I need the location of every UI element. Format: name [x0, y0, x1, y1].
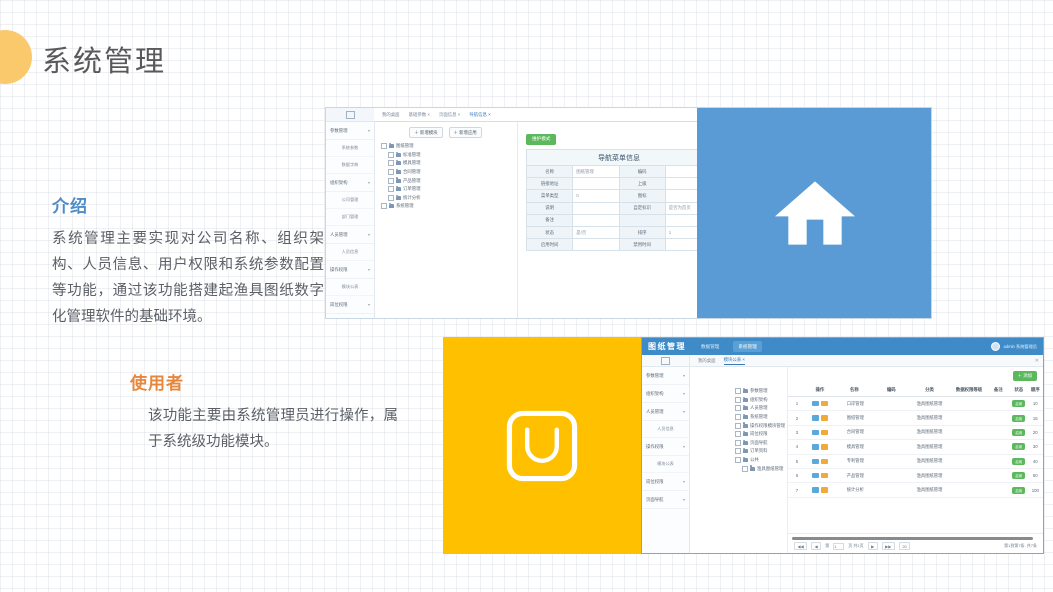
column-header-1[interactable]: 操作	[806, 384, 834, 397]
row-actions[interactable]	[806, 483, 834, 497]
folder-icon	[396, 187, 401, 191]
screenshot-navigation-menu: 参数管理▾系统参数数据字典组织架构▾公司管理部门管理人员管理▾人员信息操作权限▾…	[325, 107, 932, 319]
table-row[interactable]: 3合同管理渔具图纸管理启用20	[788, 425, 1043, 439]
s2-header: 图纸管理 数据管理系统管理 admin 系统管理员	[642, 338, 1043, 355]
tab-0[interactable]: 我的桌面	[382, 112, 400, 118]
s1-collapse-toggle[interactable]	[326, 108, 374, 122]
tab-1[interactable]: 基础参数 ×	[409, 112, 430, 118]
view-icon[interactable]	[812, 459, 819, 465]
row-category: 渔具图纸管理	[908, 468, 951, 482]
row-category: 渔具图纸管理	[908, 397, 951, 411]
row-level	[951, 483, 987, 497]
table-header-row: 操作名称编码分类数据权限等级备注状态顺序	[788, 384, 1043, 397]
column-header-0[interactable]	[788, 384, 806, 397]
expand-icon[interactable]	[735, 431, 741, 437]
s2-grid-pane: ＋ 添加 操作名称编码分类数据权限等级备注状态顺序 1口岸管理渔具图纸管理启用1…	[788, 367, 1043, 554]
tree-node-label: 参数管理	[750, 388, 768, 394]
page-size-select[interactable]: 20	[899, 542, 910, 550]
folder-icon	[396, 170, 401, 174]
row-index: 3	[788, 425, 806, 439]
status-badge-label: 启用	[1012, 400, 1025, 407]
row-remark	[987, 454, 1010, 468]
sidebar-item-0[interactable]: 参数管理▾	[642, 367, 689, 385]
s2-collapse-toggle[interactable]	[642, 355, 690, 366]
row-order: 40	[1028, 454, 1043, 468]
sidebar-item-label: 模块公表	[342, 284, 359, 290]
tree-node-label: 模具管理	[403, 160, 421, 166]
status-badge-label: 启用	[1012, 429, 1025, 436]
chevron-down-icon: ▾	[683, 391, 685, 396]
tree-node[interactable]: 组织架构	[735, 396, 787, 405]
avatar	[991, 342, 1000, 351]
row-order: 10	[1028, 397, 1043, 411]
title-accent-circle	[0, 30, 32, 84]
edit-icon[interactable]	[821, 401, 828, 407]
tree-node-label: 操作权限模块管理	[750, 423, 785, 429]
tree-node[interactable]: 渔具图纸管理	[735, 464, 787, 473]
row-name: 产品管理	[834, 468, 875, 482]
tree-node-label: 公共	[750, 457, 759, 463]
row-name: 模具管理	[834, 440, 875, 454]
user-heading: 使用者	[130, 369, 398, 394]
row-actions[interactable]	[806, 468, 834, 482]
view-icon[interactable]	[812, 430, 819, 436]
folder-icon	[743, 449, 748, 453]
tree-node[interactable]: 图纸管理	[381, 142, 517, 151]
row-remark	[987, 425, 1010, 439]
expand-icon[interactable]	[388, 160, 394, 166]
tree-node[interactable]: 合同管理	[381, 168, 517, 177]
column-header-2[interactable]: 名称	[834, 384, 875, 397]
form-label: 自定标识	[619, 202, 665, 214]
expand-icon[interactable]	[735, 440, 741, 446]
chevron-down-icon: ▾	[368, 267, 370, 272]
sidebar-item-label: 数据字典	[342, 162, 359, 168]
tree-node[interactable]: 产品管理	[381, 176, 517, 185]
status-badge: 启用	[1010, 440, 1028, 454]
sidebar-item-label: 系统参数	[342, 145, 359, 151]
row-actions[interactable]	[806, 425, 834, 439]
row-index: 6	[788, 468, 806, 482]
expand-icon[interactable]	[742, 466, 748, 472]
row-actions[interactable]	[806, 440, 834, 454]
tree-node[interactable]: 操作权限模块管理	[735, 421, 787, 430]
row-code	[875, 454, 908, 468]
sidebar-item-label: 岗位权限	[646, 479, 664, 485]
sidebar-item-label: 操作权限	[330, 267, 348, 273]
expand-icon[interactable]	[735, 414, 741, 420]
sidebar-item-label: 部门管理	[342, 214, 359, 220]
row-index: 1	[788, 397, 806, 411]
status-badge: 启用	[1010, 483, 1028, 497]
edit-icon[interactable]	[821, 459, 828, 465]
s2-tree[interactable]: 参数管理组织架构人员管理系统管理操作权限模块管理岗位权限页面导航订单资料公共渔具…	[690, 367, 788, 554]
form-label: 名称	[527, 166, 573, 178]
form-value[interactable]	[573, 239, 619, 251]
row-index: 7	[788, 483, 806, 497]
row-code	[875, 397, 908, 411]
tree-node[interactable]: 系统管理	[381, 202, 517, 211]
table-row[interactable]: 4模具管理渔具图纸管理启用30	[788, 440, 1043, 454]
row-remark	[987, 411, 1010, 425]
tree-node[interactable]: 人员管理	[735, 404, 787, 413]
table-row[interactable]: 7统计分析渔具图纸管理启用100	[788, 483, 1043, 497]
tab-0[interactable]: 我的桌面	[698, 358, 716, 364]
column-header-6[interactable]: 备注	[987, 384, 1010, 397]
sidebar-item-label: 模块公表	[657, 461, 674, 467]
form-value[interactable]: 0	[573, 190, 619, 202]
sidebar-item-6[interactable]: 岗位权限▾	[642, 473, 689, 491]
edit-icon[interactable]	[821, 415, 828, 421]
tree-node-label: 图纸管理	[396, 143, 414, 149]
row-remark	[987, 440, 1010, 454]
slide-root: 系统管理 介绍 系统管理主要实现对公司名称、组织架构、人员信息、用户权限和系统参…	[0, 0, 1053, 592]
tree-node-label: 岗位权限	[750, 431, 768, 437]
s2-grid-toolbar[interactable]: ＋ 添加	[788, 367, 1043, 384]
tab-1[interactable]: 模块公表 ×	[724, 357, 745, 365]
folder-icon	[389, 144, 394, 148]
form-label: 编码	[619, 166, 665, 178]
tree-node[interactable]: 标准管理	[381, 151, 517, 160]
tree-node-label: 系统管理	[750, 414, 768, 420]
row-level	[951, 454, 987, 468]
home-icon	[773, 178, 857, 248]
form-label	[619, 214, 665, 226]
table-row[interactable]: 6产品管理渔具图纸管理启用50	[788, 468, 1043, 482]
row-level	[951, 411, 987, 425]
tree-node-label: 标准管理	[403, 152, 421, 158]
s1-tree-pane: ＋ 新增模块 ＋ 新增应用 图纸管理标准管理模具管理合同管理产品管理订单管理统计…	[374, 122, 518, 319]
sidebar-item-8[interactable]: 操作权限▾	[326, 261, 374, 279]
row-remark	[987, 483, 1010, 497]
app-window-1: 参数管理▾系统参数数据字典组织架构▾公司管理部门管理人员管理▾人员信息操作权限▾…	[326, 108, 697, 318]
s1-tab-bar[interactable]: 我的桌面基础参数 ×页面信息 ×导航信息 ×	[374, 108, 697, 122]
row-name: 合同管理	[834, 425, 875, 439]
s1-form-toolbar[interactable]: 维护模式	[518, 122, 697, 149]
s1-content: ＋ 新增模块 ＋ 新增应用 图纸管理标准管理模具管理合同管理产品管理订单管理统计…	[374, 122, 697, 319]
folder-icon	[743, 406, 748, 410]
expand-icon[interactable]	[388, 178, 394, 184]
folder-icon	[750, 467, 755, 471]
row-actions[interactable]	[806, 454, 834, 468]
row-category: 渔具图纸管理	[908, 411, 951, 425]
expand-icon[interactable]	[388, 169, 394, 175]
s2-footer: ◀◀ ◀ 第 1 页 共1页 ▶ ▶▶ 20 第1到第7条, 共7条	[788, 533, 1043, 554]
page-label: 第	[825, 543, 829, 549]
chevron-down-icon: ▾	[683, 373, 685, 378]
row-order: 20	[1028, 425, 1043, 439]
row-order: 30	[1028, 440, 1043, 454]
row-remark	[987, 468, 1010, 482]
tab-0[interactable]: 数据管理	[696, 341, 724, 352]
tree-node-label: 统计分析	[403, 195, 421, 201]
sidebar-item-0[interactable]: 参数管理▾	[326, 122, 374, 140]
module-table: 操作名称编码分类数据权限等级备注状态顺序 1口岸管理渔具图纸管理启用102图纸管…	[788, 384, 1043, 498]
screenshot-module-list: 图纸管理 数据管理系统管理 admin 系统管理员 我的桌面模块公表 × ✕ 参…	[641, 337, 1044, 554]
expand-icon[interactable]	[388, 152, 394, 158]
sidebar-item-7[interactable]: 页面导航▾	[642, 491, 689, 509]
tree-node[interactable]: 模具管理	[381, 159, 517, 168]
form-row: 菜单类型0图标	[527, 190, 712, 202]
row-code	[875, 468, 908, 482]
tree-node[interactable]: 参数管理	[735, 387, 787, 396]
expand-icon[interactable]	[381, 143, 387, 149]
close-icon[interactable]: ✕	[1035, 358, 1039, 364]
form-label: 菜单类型	[527, 190, 573, 202]
status-badge: 启用	[1010, 411, 1028, 425]
page-input[interactable]: 1	[833, 543, 844, 550]
folder-icon	[743, 398, 748, 402]
status-badge-label: 启用	[1012, 443, 1025, 450]
sidebar-item-1[interactable]: 系统参数	[326, 140, 374, 157]
row-order: 100	[1028, 483, 1043, 497]
home-panel	[697, 108, 932, 318]
column-header-5[interactable]: 数据权限等级	[951, 384, 987, 397]
chevron-down-icon: ▾	[368, 232, 370, 237]
form-label: 禁用时间	[619, 239, 665, 251]
add-button[interactable]: ＋ 添加	[1013, 371, 1037, 381]
edit-icon[interactable]	[821, 430, 828, 436]
prev-page-button[interactable]: ◀	[811, 542, 821, 550]
sidebar-item-label: 人员信息	[657, 426, 674, 432]
sidebar-item-label: 人员管理	[646, 409, 664, 415]
folder-icon	[396, 196, 401, 200]
edit-icon[interactable]	[821, 444, 828, 450]
sidebar-item-label: 参数管理	[330, 128, 348, 134]
expand-icon[interactable]	[735, 397, 741, 403]
form-label: 链接地址	[527, 178, 573, 190]
chevron-down-icon: ▾	[683, 409, 685, 414]
intro-body: 系统管理主要实现对公司名称、组织架构、人员信息、用户权限和系统参数配置等功能，通…	[52, 226, 324, 330]
folder-icon	[396, 161, 401, 165]
folder-icon	[743, 458, 748, 462]
row-code	[875, 483, 908, 497]
row-level	[951, 468, 987, 482]
row-remark	[987, 397, 1010, 411]
s2-subbar: 我的桌面模块公表 × ✕	[642, 355, 1043, 367]
form-label: 排序	[619, 226, 665, 238]
folder-icon	[396, 153, 401, 157]
tree-node-label: 订单资料	[750, 448, 768, 454]
sidebar-item-label: 岗位权限	[330, 302, 348, 308]
status-badge: 启用	[1010, 397, 1028, 411]
expand-icon[interactable]	[388, 186, 394, 192]
sidebar-item-9[interactable]: 模块公表	[326, 279, 374, 296]
view-icon[interactable]	[812, 415, 819, 421]
first-page-button[interactable]: ◀◀	[794, 542, 807, 550]
form-row: 状态是/否排序1	[527, 226, 712, 238]
view-icon[interactable]	[812, 487, 819, 493]
page-title: 系统管理	[42, 38, 166, 80]
s1-sidebar[interactable]: 参数管理▾系统参数数据字典组织架构▾公司管理部门管理人员管理▾人员信息操作权限▾…	[326, 108, 375, 318]
form-label: 启用时间	[527, 239, 573, 251]
form-value[interactable]	[573, 202, 619, 214]
view-icon[interactable]	[812, 401, 819, 407]
form-label: 图标	[619, 190, 665, 202]
edit-icon[interactable]	[821, 487, 828, 493]
expand-icon[interactable]	[735, 457, 741, 463]
folder-icon	[743, 432, 748, 436]
edit-icon[interactable]	[821, 473, 828, 479]
row-actions[interactable]	[806, 397, 834, 411]
row-actions[interactable]	[806, 411, 834, 425]
table-row[interactable]: 1口岸管理渔具图纸管理启用10	[788, 397, 1043, 411]
sidebar-item-4[interactable]: 操作权限▾	[642, 438, 689, 456]
tree-node[interactable]: 统计分析	[381, 194, 517, 203]
sidebar-item-4[interactable]: 公司管理	[326, 192, 374, 209]
s1-form-pane: 维护模式 导航菜单信息 名称图纸管理编码链接地址上级菜单类型0图标说明自定标识是…	[518, 122, 697, 319]
view-icon[interactable]	[812, 444, 819, 450]
tab-1[interactable]: 系统管理	[733, 341, 761, 352]
chevron-down-icon: ▾	[683, 497, 685, 502]
table-row[interactable]: 5专利管理渔具图纸管理启用40	[788, 454, 1043, 468]
sidebar-item-label: 人员信息	[342, 249, 359, 255]
s2-sidebar[interactable]: 参数管理▾组织架构▾人员管理▾人员信息操作权限▾模块公表岗位权限▾页面导航▾	[642, 367, 690, 554]
shopping-bag-icon	[505, 409, 579, 483]
folder-icon	[743, 424, 748, 428]
row-category: 渔具图纸管理	[908, 454, 951, 468]
sidebar-item-label: 页面导航	[646, 497, 664, 503]
row-name: 统计分析	[834, 483, 875, 497]
form-row: 名称图纸管理编码	[527, 166, 712, 178]
maintain-mode-button[interactable]: 维护模式	[526, 134, 556, 145]
row-name: 图纸管理	[834, 411, 875, 425]
view-icon[interactable]	[812, 473, 819, 479]
column-header-7[interactable]: 状态	[1010, 384, 1028, 397]
tree-node-label: 页面导航	[750, 440, 768, 446]
add-module-button[interactable]: ＋ 新增模块	[409, 127, 442, 138]
tree-node-label: 订单管理	[403, 186, 421, 192]
tree-node[interactable]: 订单资料	[735, 447, 787, 456]
row-name: 专利管理	[834, 454, 875, 468]
add-app-button[interactable]: ＋ 新增应用	[449, 127, 482, 138]
expand-icon[interactable]	[735, 448, 741, 454]
form-value[interactable]: 图纸管理	[573, 166, 619, 178]
expand-icon[interactable]	[735, 423, 741, 429]
column-header-8[interactable]: 顺序	[1028, 384, 1043, 397]
tree-node[interactable]: 系统管理	[735, 413, 787, 422]
sidebar-item-label: 人员管理	[330, 232, 348, 238]
form-label: 说明	[527, 202, 573, 214]
navigation-menu-form: 导航菜单信息 名称图纸管理编码链接地址上级菜单类型0图标说明自定标识是否为首页备…	[526, 149, 712, 251]
status-badge-label: 启用	[1012, 487, 1025, 494]
column-header-4[interactable]: 分类	[908, 384, 951, 397]
section-user: 使用者 该功能主要由系统管理员进行操作，属于系统级功能模块。	[130, 369, 398, 455]
tree-node[interactable]: 公共	[735, 456, 787, 465]
s2-user-area[interactable]: admin 系统管理员	[991, 342, 1037, 351]
sidebar-item-3[interactable]: 组织架构▾	[326, 174, 374, 192]
sidebar-item-11[interactable]: 岗位信息	[326, 314, 374, 319]
row-code	[875, 425, 908, 439]
sidebar-item-5[interactable]: 模块公表	[642, 456, 689, 473]
sidebar-item-10[interactable]: 岗位权限▾	[326, 296, 374, 314]
s2-nav[interactable]: 数据管理系统管理	[696, 341, 762, 352]
folder-icon	[743, 441, 748, 445]
expand-icon[interactable]	[388, 195, 394, 201]
tree-node-label: 渔具图纸管理	[757, 466, 783, 472]
status-badge: 启用	[1010, 454, 1028, 468]
folder-icon	[743, 389, 748, 393]
sidebar-item-6[interactable]: 人员管理▾	[326, 226, 374, 244]
row-level	[951, 425, 987, 439]
form-label: 状态	[527, 226, 573, 238]
tree-node-label: 组织架构	[750, 397, 768, 403]
s1-tree-toolbar[interactable]: ＋ 新增模块 ＋ 新增应用	[374, 122, 517, 142]
tree-node[interactable]: 订单管理	[381, 185, 517, 194]
bag-panel	[443, 337, 641, 554]
section-intro: 介绍 系统管理主要实现对公司名称、组织架构、人员信息、用户权限和系统参数配置等功…	[52, 192, 324, 330]
form-value[interactable]	[573, 178, 619, 190]
expand-icon[interactable]	[735, 405, 741, 411]
row-level	[951, 440, 987, 454]
tree-node[interactable]: 页面导航	[735, 439, 787, 448]
chevron-down-icon: ▾	[368, 128, 370, 133]
form-row: 启用时间禁用时间	[527, 239, 712, 251]
tree-node-label: 合同管理	[403, 169, 421, 175]
expand-icon[interactable]	[381, 203, 387, 209]
row-name: 口岸管理	[834, 397, 875, 411]
intro-heading: 介绍	[52, 192, 324, 217]
row-code	[875, 411, 908, 425]
row-level	[951, 397, 987, 411]
s2-tab-bar[interactable]: 我的桌面模块公表 ×	[690, 357, 1035, 365]
table-row[interactable]: 2图纸管理渔具图纸管理启用15	[788, 411, 1043, 425]
column-header-3[interactable]: 编码	[875, 384, 908, 397]
sidebar-item-7[interactable]: 人员信息	[326, 244, 374, 261]
form-value[interactable]: 是/否	[573, 226, 619, 238]
record-summary: 第1到第7条, 共7条	[1004, 543, 1037, 549]
form-value[interactable]	[573, 214, 619, 226]
sidebar-item-2[interactable]: 数据字典	[326, 157, 374, 174]
row-index: 4	[788, 440, 806, 454]
tree-node-label: 人员管理	[750, 405, 768, 411]
tree-node[interactable]: 岗位权限	[735, 430, 787, 439]
chevron-down-icon: ▾	[683, 479, 685, 484]
s1-tree[interactable]: 图纸管理标准管理模具管理合同管理产品管理订单管理统计分析系统管理	[374, 142, 517, 211]
folder-icon	[743, 415, 748, 419]
last-page-button[interactable]: ▶▶	[882, 542, 895, 550]
form-label: 上级	[619, 178, 665, 190]
sidebar-item-label: 参数管理	[646, 373, 664, 379]
sidebar-item-label: 组织架构	[330, 180, 348, 186]
tree-node-label: 产品管理	[403, 178, 421, 184]
row-order: 15	[1028, 411, 1043, 425]
chevron-down-icon: ▾	[368, 302, 370, 307]
sidebar-item-label: 组织架构	[646, 391, 664, 397]
form-row: 备注	[527, 214, 712, 226]
pagination[interactable]: ◀◀ ◀ 第 1 页 共1页 ▶ ▶▶ 20 第1到第7条, 共7条	[788, 540, 1043, 550]
app-logo: 图纸管理	[648, 341, 686, 352]
row-category: 渔具图纸管理	[908, 483, 951, 497]
sidebar-item-3[interactable]: 人员信息	[642, 421, 689, 438]
form-row: 说明自定标识是否为首页	[527, 202, 712, 214]
next-page-button[interactable]: ▶	[868, 542, 878, 550]
expand-icon[interactable]	[735, 388, 741, 394]
status-badge: 启用	[1010, 425, 1028, 439]
s2-body: 参数管理▾组织架构▾人员管理▾人员信息操作权限▾模块公表岗位权限▾页面导航▾ 参…	[642, 367, 1043, 554]
sidebar-item-label: 公司管理	[342, 197, 359, 203]
sidebar-item-1[interactable]: 组织架构▾	[642, 385, 689, 403]
row-code	[875, 440, 908, 454]
sidebar-item-5[interactable]: 部门管理	[326, 209, 374, 226]
row-index: 2	[788, 411, 806, 425]
status-badge-label: 启用	[1012, 415, 1025, 422]
tab-2[interactable]: 页面信息 ×	[439, 112, 460, 118]
sidebar-item-2[interactable]: 人员管理▾	[642, 403, 689, 421]
tab-3[interactable]: 导航信息 ×	[469, 112, 490, 118]
row-order: 50	[1028, 468, 1043, 482]
form-title: 导航菜单信息	[527, 150, 712, 166]
